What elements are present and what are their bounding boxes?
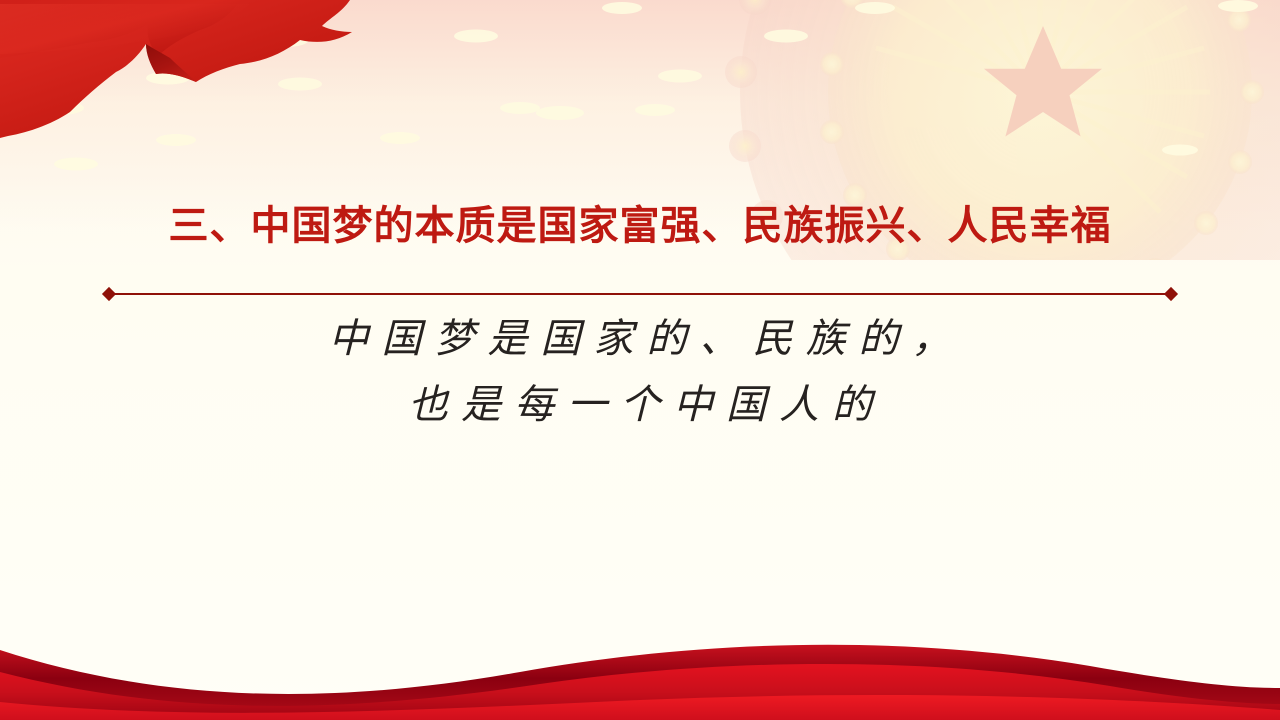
title-divider: [104, 288, 1176, 300]
page-title: 三、中国梦的本质是国家富强、民族振兴、人民幸福: [0, 198, 1280, 254]
slide-content: 三、中国梦的本质是国家富强、民族振兴、人民幸福 中国梦是国家的、民族的， 也是每…: [0, 0, 1280, 720]
divider-line: [110, 293, 1170, 295]
body-line-1: 中国梦是国家的、民族的，: [0, 306, 1280, 372]
divider-diamond-right: [1164, 287, 1178, 301]
slide-body-text: 中国梦是国家的、民族的， 也是每一个中国人的: [0, 306, 1280, 438]
presentation-slide: 三、中国梦的本质是国家富强、民族振兴、人民幸福 中国梦是国家的、民族的， 也是每…: [0, 0, 1280, 720]
body-line-2: 也是每一个中国人的: [0, 372, 1280, 438]
